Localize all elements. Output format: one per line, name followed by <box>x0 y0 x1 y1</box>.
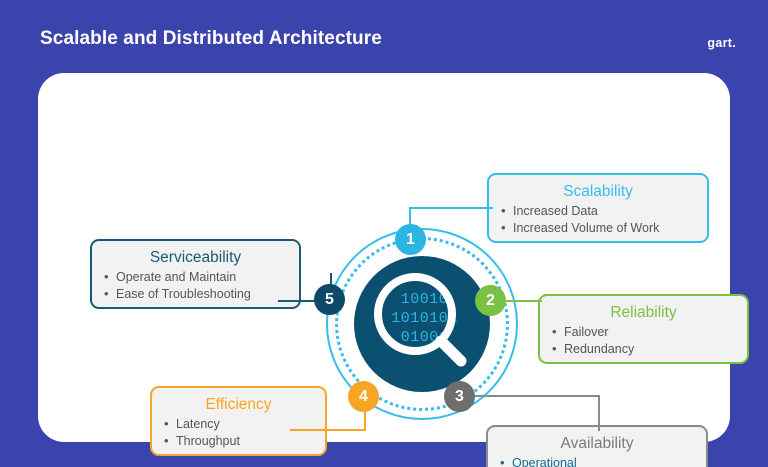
infobox-title: Availability <box>498 433 696 454</box>
page-title: Scalable and Distributed Architecture <box>40 28 382 50</box>
infobox-availability[interactable]: Availability Operational Reliability Vs.… <box>486 425 708 467</box>
slide-canvas: Scalable and Distributed Architecture ga… <box>0 0 768 467</box>
infobox-list: Failover Redundancy <box>550 324 737 358</box>
list-item: Increased Data <box>499 203 697 220</box>
connector-reliability <box>504 300 542 302</box>
hub-core: 10010 1010101 01001 <box>354 256 490 392</box>
infobox-list: Increased Data Increased Volume of Work <box>499 203 697 237</box>
list-item: Throughput <box>162 433 315 450</box>
list-item: Operate and Maintain <box>102 269 289 286</box>
magnifying-glass-icon <box>354 256 490 392</box>
step-badge-1[interactable]: 1 <box>395 224 426 255</box>
brand-logo: gart. <box>707 36 736 50</box>
step-badge-4[interactable]: 4 <box>348 381 379 412</box>
list-item: Redundancy <box>550 341 737 358</box>
infobox-list: Operate and Maintain Ease of Troubleshoo… <box>102 269 289 303</box>
content-card: 10010 1010101 01001 1 2 3 4 5 Scalabilit… <box>38 73 730 442</box>
infobox-title: Scalability <box>499 181 697 202</box>
infobox-title: Reliability <box>550 302 737 323</box>
step-badge-5[interactable]: 5 <box>314 284 345 315</box>
step-badge-3[interactable]: 3 <box>444 381 475 412</box>
infobox-serviceability[interactable]: Serviceability Operate and Maintain Ease… <box>90 239 301 309</box>
infobox-list: Operational Reliability Vs. Availability <box>498 455 696 467</box>
connector-availability <box>474 395 600 431</box>
list-item: Operational <box>498 455 696 467</box>
list-item: Ease of Troubleshooting <box>102 286 289 303</box>
list-item: Failover <box>550 324 737 341</box>
list-item: Increased Volume of Work <box>499 220 697 237</box>
infobox-scalability[interactable]: Scalability Increased Data Increased Vol… <box>487 173 709 243</box>
step-badge-2[interactable]: 2 <box>475 285 506 316</box>
infobox-reliability[interactable]: Reliability Failover Redundancy <box>538 294 749 364</box>
infobox-title: Serviceability <box>102 247 289 268</box>
